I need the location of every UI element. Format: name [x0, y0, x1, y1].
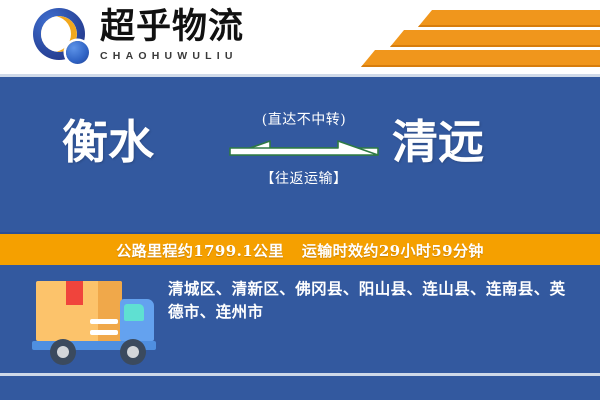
truck-box-tape	[66, 281, 83, 305]
stripe-3	[361, 50, 600, 67]
distance-text: 公路里程约1799.1公里	[116, 240, 284, 261]
stripe-1	[418, 10, 600, 27]
roundtrip-note: 【往返运输】	[228, 170, 380, 188]
truck-hub-front	[127, 346, 139, 358]
route-info-bar: 公路里程约1799.1公里 运输时效约29小时59分钟	[0, 232, 600, 269]
destination-city: 清远	[392, 111, 484, 173]
duration-text: 运输时效约29小时59分钟	[302, 240, 484, 261]
logo-accent-dot	[66, 41, 89, 64]
brand-name-cn: 超乎物流	[100, 6, 280, 48]
direct-service-note: (直达不中转)	[228, 111, 380, 129]
logistics-route-banner: 超乎物流 CHAOHUWULIU 衡水 (直达不中转) 【往返运输】 清远	[0, 0, 600, 400]
coverage-panel: 清城区、清新区、佛冈县、阳山县、连山县、连南县、英德市、连州市	[0, 265, 600, 400]
coverage-areas-text: 清城区、清新区、佛冈县、阳山县、连山县、连南县、英德市、连州市	[168, 277, 580, 323]
brand-wordmark: 超乎物流 CHAOHUWULIU	[100, 6, 280, 68]
route-panel: 衡水 (直达不中转) 【往返运输】 清远	[0, 74, 600, 235]
header: 超乎物流 CHAOHUWULIU	[0, 0, 600, 74]
route-middle: (直达不中转) 【往返运输】	[228, 111, 380, 211]
bottom-divider	[0, 373, 600, 376]
brand-name-en: CHAOHUWULIU	[100, 49, 280, 63]
circle-crescent-logo-icon	[33, 8, 95, 66]
truck-stripe-2	[90, 330, 118, 335]
decorative-stripes	[330, 6, 600, 68]
bidirectional-arrow-icon	[228, 133, 380, 167]
truck-window	[124, 304, 144, 321]
truck-hub-rear	[57, 346, 69, 358]
stripe-2	[390, 30, 600, 47]
truck-stripe-1	[90, 319, 118, 324]
origin-city: 衡水	[62, 111, 154, 173]
delivery-truck-icon	[24, 275, 164, 367]
